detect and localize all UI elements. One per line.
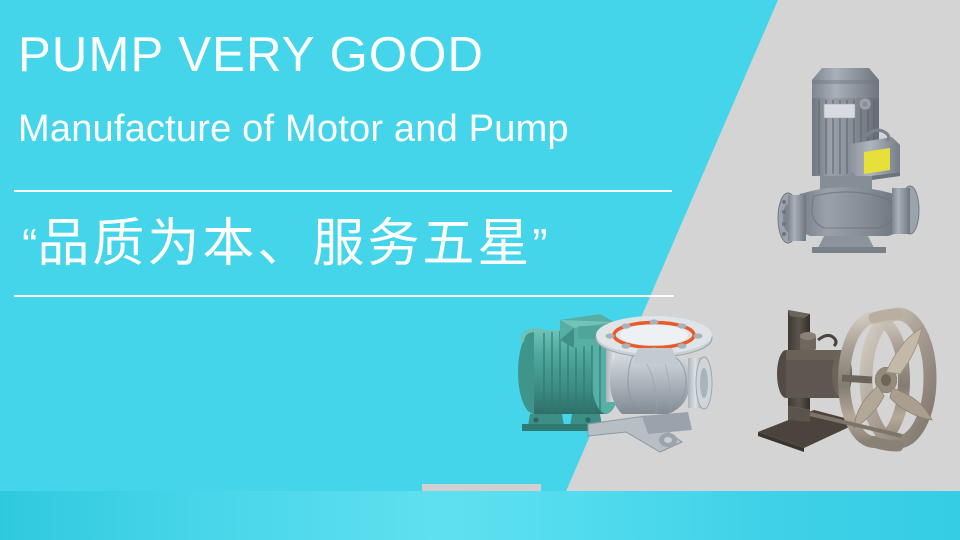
close-quote: ” (532, 219, 547, 271)
divider-bottom (14, 295, 674, 297)
product-image-inline-pump (762, 42, 942, 257)
product-image-submersible-mixer (752, 292, 947, 467)
page-subtitle: Manufacture of Motor and Pump (18, 104, 569, 154)
open-quote: “ (22, 219, 37, 271)
promo-banner: PUMP VERY GOOD Manufacture of Motor and … (0, 0, 960, 540)
page-title: PUMP VERY GOOD (18, 26, 484, 84)
product-image-centrifugal-pump (492, 300, 752, 465)
divider-top (14, 190, 672, 192)
headline-block: PUMP VERY GOOD Manufacture of Motor and … (0, 0, 720, 320)
slogan-body: 品质为本、服务五星 (37, 215, 532, 273)
accent-ledge-strip (422, 484, 541, 491)
slogan-text: “品质为本、服务五星” (22, 203, 548, 286)
bottom-accent-bar (0, 491, 960, 540)
